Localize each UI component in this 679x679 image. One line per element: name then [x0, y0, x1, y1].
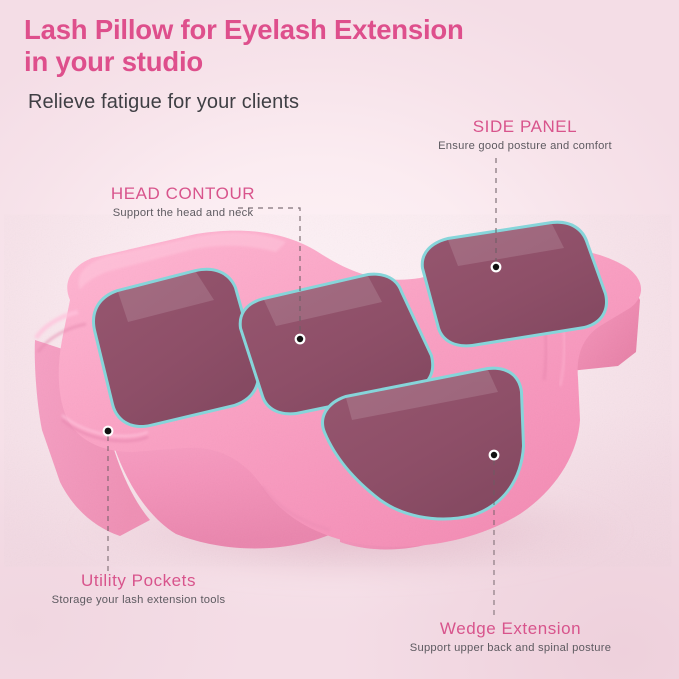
callout-side-panel-title: SIDE PANEL [380, 118, 670, 137]
callout-head-contour: HEAD CONTOUR Support the head and neck [58, 185, 308, 219]
callout-head-contour-subtitle: Support the head and neck [58, 207, 308, 219]
product-infographic: Lash Pillow for Eyelash Extension in you… [0, 0, 679, 679]
callout-head-contour-title: HEAD CONTOUR [58, 185, 308, 204]
callout-utility-pockets-subtitle: Storage your lash extension tools [6, 594, 271, 606]
callout-utility-pockets-title: Utility Pockets [6, 572, 271, 591]
callout-wedge-extension: Wedge Extension Support upper back and s… [368, 620, 653, 654]
callout-wedge-extension-subtitle: Support upper back and spinal posture [368, 642, 653, 654]
callout-wedge-extension-title: Wedge Extension [368, 620, 653, 639]
page-subtitle: Relieve fatigue for your clients [28, 91, 624, 114]
callout-side-panel-subtitle: Ensure good posture and comfort [380, 140, 670, 152]
callout-side-panel: SIDE PANEL Ensure good posture and comfo… [380, 118, 670, 152]
header: Lash Pillow for Eyelash Extension in you… [24, 14, 624, 114]
page-title: Lash Pillow for Eyelash Extension in you… [24, 14, 624, 78]
callout-utility-pockets: Utility Pockets Storage your lash extens… [6, 572, 271, 606]
